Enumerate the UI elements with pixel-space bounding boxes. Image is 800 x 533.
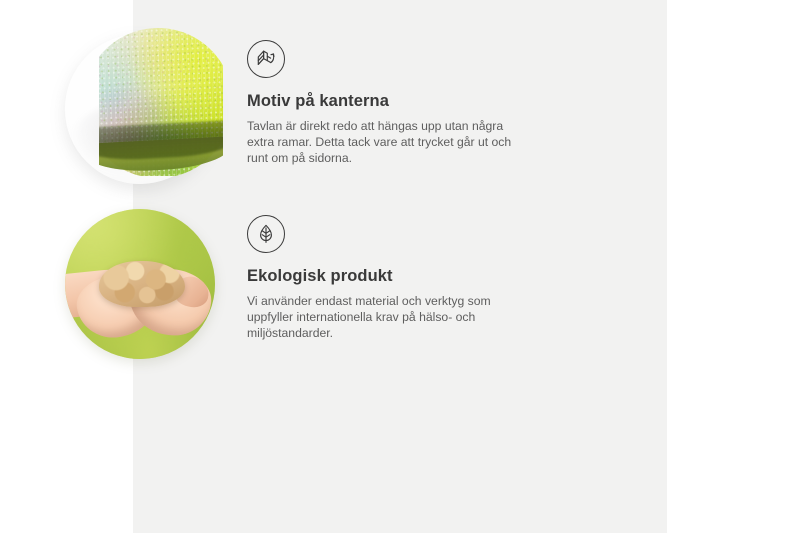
feature-block-ekologisk-produkt: Ekologisk produkt Vi använder endast mat…	[60, 203, 523, 366]
feature-title: Ekologisk produkt	[247, 267, 523, 287]
canvas-image-clip	[99, 28, 223, 176]
canvas-wrapped-edges-icon	[247, 40, 285, 78]
wood-chips	[99, 261, 185, 307]
feature-description: Tavlan är direkt redo att hängas upp uta…	[247, 118, 515, 167]
hands-holding-wood-chips-photo	[60, 203, 223, 366]
feature-text-column: Motiv på kanterna Tavlan är direkt redo …	[223, 28, 523, 167]
green-disc-photo	[65, 209, 215, 359]
product-feature-banner: Motiv på kanterna Tavlan är direkt redo …	[0, 0, 800, 533]
feature-description: Vi använder endast material och verktyg …	[247, 293, 515, 342]
feature-block-motiv-pa-kanterna: Motiv på kanterna Tavlan är direkt redo …	[60, 28, 523, 191]
leaf-icon	[247, 215, 285, 253]
feature-title: Motiv på kanterna	[247, 92, 523, 112]
canvas-print-corner-photo	[60, 28, 223, 191]
wood-chips-texture	[99, 261, 185, 307]
feature-text-column: Ekologisk produkt Vi använder endast mat…	[223, 203, 523, 342]
